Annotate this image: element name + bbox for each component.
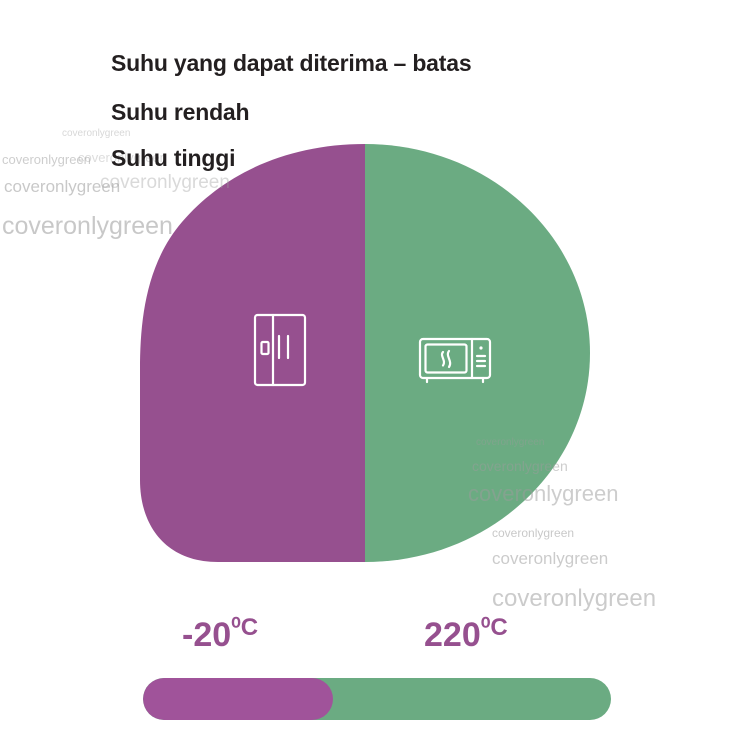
page-title: Suhu yang dapat diterima – batas xyxy=(111,50,471,77)
refrigerator-icon xyxy=(252,312,308,388)
low-temperature-number: -20 xyxy=(182,616,231,654)
legend-label-high-temp: Suhu tinggi xyxy=(111,145,235,172)
high-temperature-number: 220 xyxy=(424,616,481,654)
low-temperature-value: -20⁰C xyxy=(182,613,258,655)
microwave-icon xyxy=(418,336,492,386)
watermark-text: coveronlygreen xyxy=(4,177,120,197)
watermark-text: coveronlygreen xyxy=(62,128,130,139)
infographic-canvas: coveronlygreen coveronlygreen coveronlyg… xyxy=(0,0,750,750)
high-temperature-unit: ⁰C xyxy=(481,614,508,641)
high-temperature-value: 220⁰C xyxy=(424,613,508,655)
temperature-split-disc xyxy=(140,144,590,562)
watermark-text: coveronlygreen xyxy=(2,152,91,167)
temperature-range-gauge-fill xyxy=(143,678,333,720)
watermark-text: coveronlygreen xyxy=(492,585,656,613)
split-disc-graphic xyxy=(140,144,590,562)
legend-label-low-temp: Suhu rendah xyxy=(111,99,249,126)
temperature-range-gauge xyxy=(143,678,611,720)
low-temperature-unit: ⁰C xyxy=(231,614,258,641)
